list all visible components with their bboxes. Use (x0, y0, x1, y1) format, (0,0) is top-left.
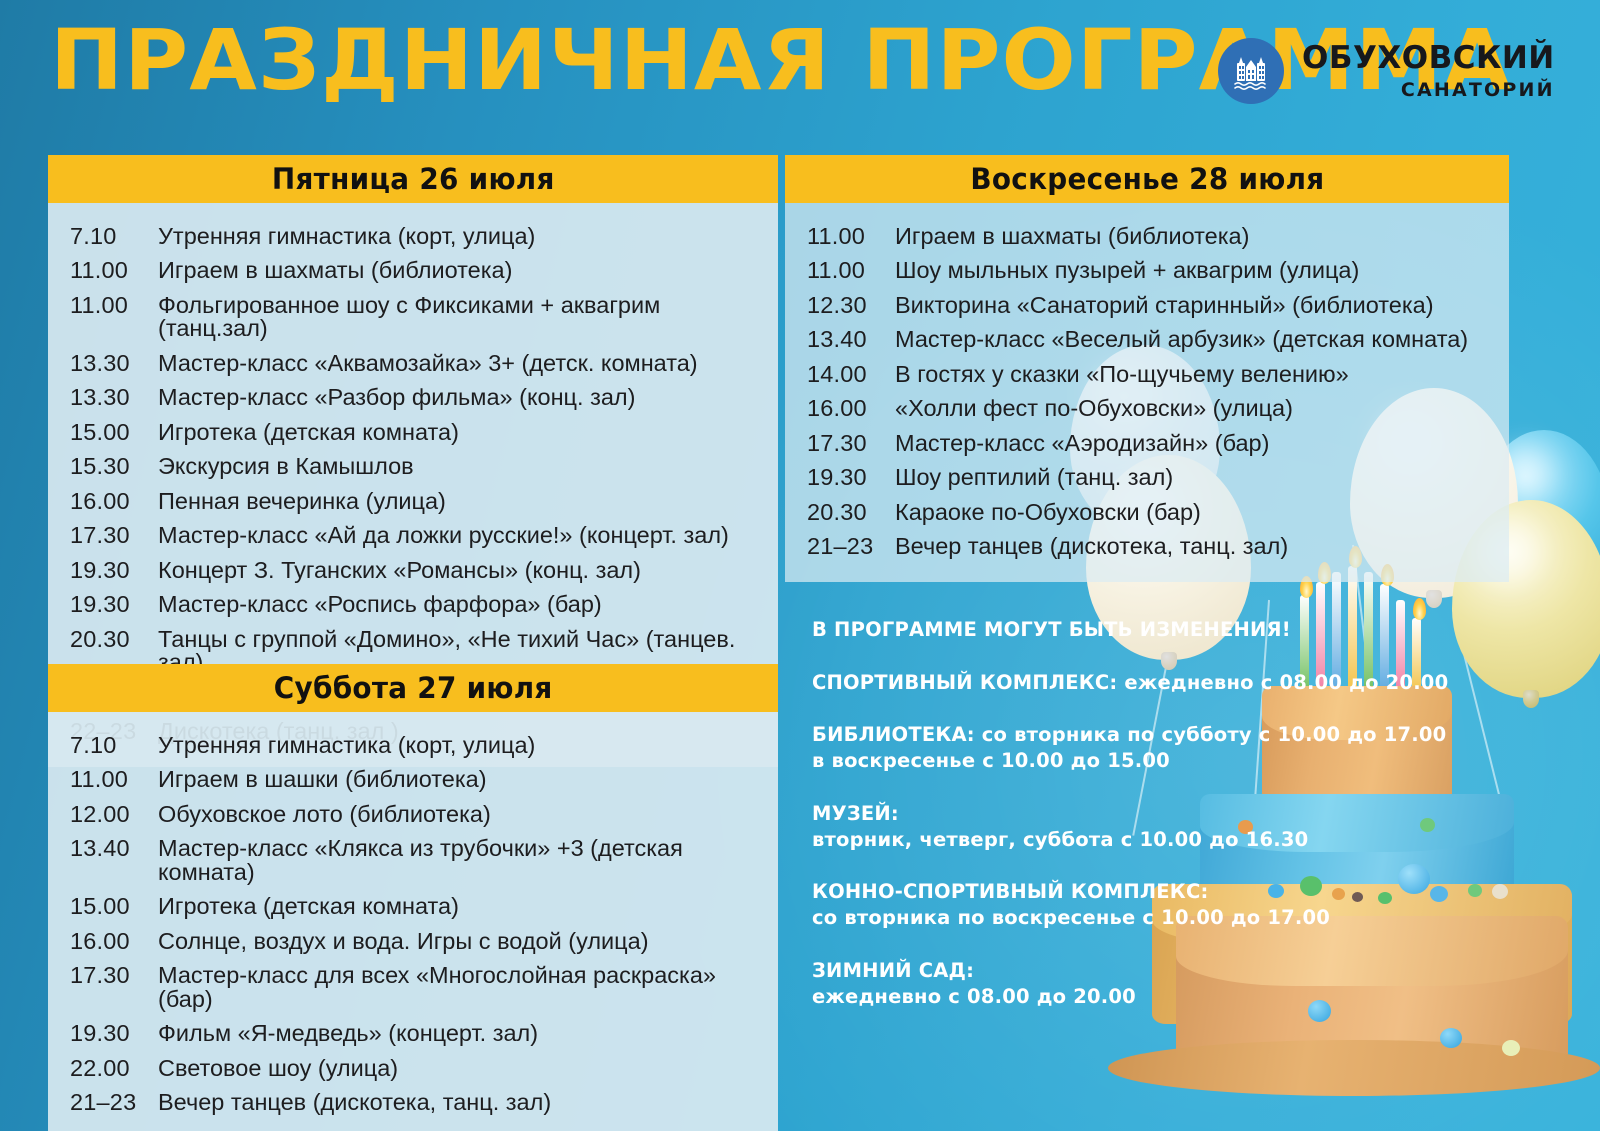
event-title: Утренняя гимнастика (корт, улица) (158, 734, 778, 758)
program-change-notice: В ПРОГРАММЕ МОГУТ БЫТЬ ИЗМЕНЕНИЯ! (812, 617, 1452, 643)
schedule-row: 11.00Играем в шашки (библиотека) (48, 763, 778, 798)
event-title: Мастер-класс «Роспись фарфора» (бар) (158, 593, 778, 617)
event-time: 17.30 (48, 964, 158, 988)
schedule-title: Воскресенье 28 июля (970, 162, 1324, 196)
schedule-row: 13.30Мастер-класс «Аквамозайка» 3+ (детс… (48, 346, 778, 381)
info-line: ежедневно с 08.00 до 20.00 (812, 984, 1452, 1010)
event-title: Мастер-класс «Веселый арбузик» (детская … (895, 328, 1509, 352)
event-title: Фольгированное шоу с Фиксиками + аквагри… (158, 294, 778, 341)
event-title: Мастер-класс «Клякса из трубочки» +3 (де… (158, 837, 778, 884)
event-title: В гостях у сказки «По-щучьему велению» (895, 363, 1509, 387)
sanatorium-building-icon (1218, 38, 1284, 104)
schedule-title: Пятница 26 июля (272, 162, 555, 196)
schedule-list-sunday: 11.00Играем в шахматы (библиотека)11.00Ш… (785, 203, 1509, 582)
event-time: 7.10 (48, 225, 158, 249)
event-time: 22.00 (48, 1057, 158, 1081)
event-title: «Холли фест по-Обуховски» (улица) (895, 397, 1509, 421)
info-group: СПОРТИВНЫЙ КОМПЛЕКС: ежедневно с 08.00 д… (812, 670, 1452, 696)
info-line: БИБЛИОТЕКА: со вторника по субботу с 10.… (812, 722, 1452, 748)
schedule-row: 22.00Световое шоу (улица) (48, 1051, 778, 1086)
schedule-row: 17.30Мастер-класс для всех «Многослойная… (48, 959, 778, 1017)
info-line: МУЗЕЙ: (812, 801, 1452, 827)
schedule-row: 15.30Экскурсия в Камышлов (48, 450, 778, 485)
facility-hours-info: В ПРОГРАММЕ МОГУТ БЫТЬ ИЗМЕНЕНИЯ! СПОРТИ… (812, 617, 1452, 1036)
event-title: Мастер-класс «Аквамозайка» 3+ (детск. ко… (158, 352, 778, 376)
event-time: 11.00 (48, 768, 158, 792)
info-group: МУЗЕЙ:вторник, четверг, суббота с 10.00 … (812, 801, 1452, 852)
event-time: 19.30 (785, 466, 895, 490)
event-time: 13.40 (48, 837, 158, 861)
event-title: Викторина «Санаторий старинный» (библиот… (895, 294, 1509, 318)
schedule-row: 19.30Шоу рептилий (танц. зал) (785, 461, 1509, 496)
schedule-row: 11.00Играем в шахматы (библиотека) (785, 219, 1509, 254)
info-group: БИБЛИОТЕКА: со вторника по субботу с 10.… (812, 722, 1452, 773)
event-time: 13.30 (48, 352, 158, 376)
schedule-row: 19.30Концерт З. Туганских «Романсы» (кон… (48, 553, 778, 588)
balloon-string (1452, 610, 1510, 834)
event-time: 17.30 (48, 524, 158, 548)
schedule-list-saturday: 7.10Утренняя гимнастика (корт, улица)11.… (48, 712, 778, 1131)
schedule-row: 7.10Утренняя гимнастика (корт, улица) (48, 728, 778, 763)
schedule-header-saturday: Суббота 27 июля (48, 664, 778, 712)
event-time: 20.30 (785, 501, 895, 525)
brand-name: ОБУХОВСКИЙ (1302, 43, 1555, 74)
schedule-title: Суббота 27 июля (274, 671, 553, 705)
event-time: 19.30 (48, 593, 158, 617)
schedule-row: 13.30Мастер-класс «Разбор фильма» (конц.… (48, 381, 778, 416)
poster-header: ПРАЗДНИЧНАЯ ПРОГРАММА (0, 0, 1600, 150)
schedule-row: 7.10Утренняя гимнастика (корт, улица) (48, 219, 778, 254)
schedule-row: 20.30Караоке по-Обуховски (бар) (785, 495, 1509, 530)
schedule-row: 21–23Вечер танцев (дискотека, танц. зал) (785, 530, 1509, 565)
event-time: 16.00 (785, 397, 895, 421)
event-title: Фильм «Я-медведь» (концерт. зал) (158, 1022, 778, 1046)
event-title: Экскурсия в Камышлов (158, 455, 778, 479)
info-group: КОННО-СПОРТИВНЫЙ КОМПЛЕКС:со вторника по… (812, 879, 1452, 930)
notice-text: В ПРОГРАММЕ МОГУТ БЫТЬ ИЗМЕНЕНИЯ! (812, 617, 1452, 643)
event-time: 16.00 (48, 490, 158, 514)
schedule-row: 12.30Викторина «Санаторий старинный» (би… (785, 288, 1509, 323)
event-title: Играем в шахматы (библиотека) (895, 225, 1509, 249)
schedule-row: 14.00В гостях у сказки «По-щучьему велен… (785, 357, 1509, 392)
event-title: Игротека (детская комната) (158, 895, 778, 919)
event-time: 12.30 (785, 294, 895, 318)
schedule-header-sunday: Воскресенье 28 июля (785, 155, 1509, 203)
schedule-row: 11.00Играем в шахматы (библиотека) (48, 254, 778, 289)
event-title: Мастер-класс «Аэродизайн» (бар) (895, 432, 1509, 456)
info-line: СПОРТИВНЫЙ КОМПЛЕКС: ежедневно с 08.00 д… (812, 670, 1452, 696)
event-time: 20.30 (48, 628, 158, 652)
schedule-row: 12.00Обуховское лото (библиотека) (48, 797, 778, 832)
event-time: 13.40 (785, 328, 895, 352)
schedule-header-friday: Пятница 26 июля (48, 155, 778, 203)
event-time: 7.10 (48, 734, 158, 758)
event-title: Караоке по-Обуховски (бар) (895, 501, 1509, 525)
brand-text: ОБУХОВСКИЙ САНАТОРИЙ (1302, 43, 1555, 100)
event-title: Концерт З. Туганских «Романсы» (конц. за… (158, 559, 778, 583)
schedule-row: 15.00Игротека (детская комната) (48, 890, 778, 925)
event-time: 14.00 (785, 363, 895, 387)
info-group: ЗИМНИЙ САД:ежедневно с 08.00 до 20.00 (812, 958, 1452, 1009)
event-time: 17.30 (785, 432, 895, 456)
brand-lockup: ОБУХОВСКИЙ САНАТОРИЙ (1218, 38, 1555, 104)
event-time: 19.30 (48, 559, 158, 583)
event-title: Солнце, воздух и вода. Игры с водой (ули… (158, 930, 778, 954)
event-time: 21–23 (48, 1091, 158, 1115)
schedule-row: 11.00Шоу мыльных пузырей + аквагрим (ули… (785, 254, 1509, 289)
event-time: 16.00 (48, 930, 158, 954)
info-groups: СПОРТИВНЫЙ КОМПЛЕКС: ежедневно с 08.00 д… (812, 670, 1452, 1010)
event-title: Шоу мыльных пузырей + аквагрим (улица) (895, 259, 1509, 283)
event-time: 13.30 (48, 386, 158, 410)
schedule-row: 16.00«Холли фест по-Обуховски» (улица) (785, 392, 1509, 427)
event-title: Играем в шахматы (библиотека) (158, 259, 778, 283)
event-title: Мастер-класс «Разбор фильма» (конц. зал) (158, 386, 778, 410)
event-time: 21–23 (785, 535, 895, 559)
info-line: в воскресенье с 10.00 до 15.00 (812, 748, 1452, 774)
schedule-row: 16.00Пенная вечеринка (улица) (48, 484, 778, 519)
event-title: Вечер танцев (дискотека, танц. зал) (158, 1091, 778, 1115)
event-title: Шоу рептилий (танц. зал) (895, 466, 1509, 490)
schedule-panel-sunday: Воскресенье 28 июля 11.00Играем в шахмат… (785, 155, 1509, 582)
event-title: Обуховское лото (библиотека) (158, 803, 778, 827)
schedule-row: 11.00Фольгированное шоу с Фиксиками + ак… (48, 288, 778, 346)
event-time: 11.00 (785, 259, 895, 283)
info-line: ЗИМНИЙ САД: (812, 958, 1452, 984)
event-time: 12.00 (48, 803, 158, 827)
info-line: КОННО-СПОРТИВНЫЙ КОМПЛЕКС: (812, 879, 1452, 905)
event-time: 15.00 (48, 895, 158, 919)
event-time: 15.00 (48, 421, 158, 445)
schedule-row: 19.30Фильм «Я-медведь» (концерт. зал) (48, 1017, 778, 1052)
schedule-row: 13.40Мастер-класс «Веселый арбузик» (дет… (785, 323, 1509, 358)
schedule-row: 17.30Мастер-класс «Ай да ложки русские!»… (48, 519, 778, 554)
event-time: 11.00 (48, 294, 158, 318)
schedule-row: 21–23Вечер танцев (дискотека, танц. зал) (48, 1086, 778, 1121)
info-line: со вторника по воскресенье с 10.00 до 17… (812, 905, 1452, 931)
event-title: Играем в шашки (библиотека) (158, 768, 778, 792)
schedule-panel-saturday: Суббота 27 июля 7.10Утренняя гимнастика … (48, 664, 778, 1131)
event-time: 11.00 (48, 259, 158, 283)
poster-canvas: ПРАЗДНИЧНАЯ ПРОГРАММА (0, 0, 1600, 1131)
info-line: вторник, четверг, суббота с 10.00 до 16.… (812, 827, 1452, 853)
schedule-row: 13.40Мастер-класс «Клякса из трубочки» +… (48, 832, 778, 890)
event-title: Игротека (детская комната) (158, 421, 778, 445)
schedule-row: 17.30Мастер-класс «Аэродизайн» (бар) (785, 426, 1509, 461)
event-title: Мастер-класс «Ай да ложки русские!» (кон… (158, 524, 778, 548)
event-title: Световое шоу (улица) (158, 1057, 778, 1081)
brand-subtitle: САНАТОРИЙ (1302, 81, 1555, 100)
event-title: Утренняя гимнастика (корт, улица) (158, 225, 778, 249)
schedule-row: 19.30Мастер-класс «Роспись фарфора» (бар… (48, 588, 778, 623)
event-time: 11.00 (785, 225, 895, 249)
schedule-row: 16.00Солнце, воздух и вода. Игры с водой… (48, 924, 778, 959)
event-time: 19.30 (48, 1022, 158, 1046)
schedule-row: 15.00Игротека (детская комната) (48, 415, 778, 450)
event-time: 15.30 (48, 455, 158, 479)
event-title: Мастер-класс для всех «Многослойная раск… (158, 964, 778, 1011)
event-title: Пенная вечеринка (улица) (158, 490, 778, 514)
event-title: Вечер танцев (дискотека, танц. зал) (895, 535, 1509, 559)
